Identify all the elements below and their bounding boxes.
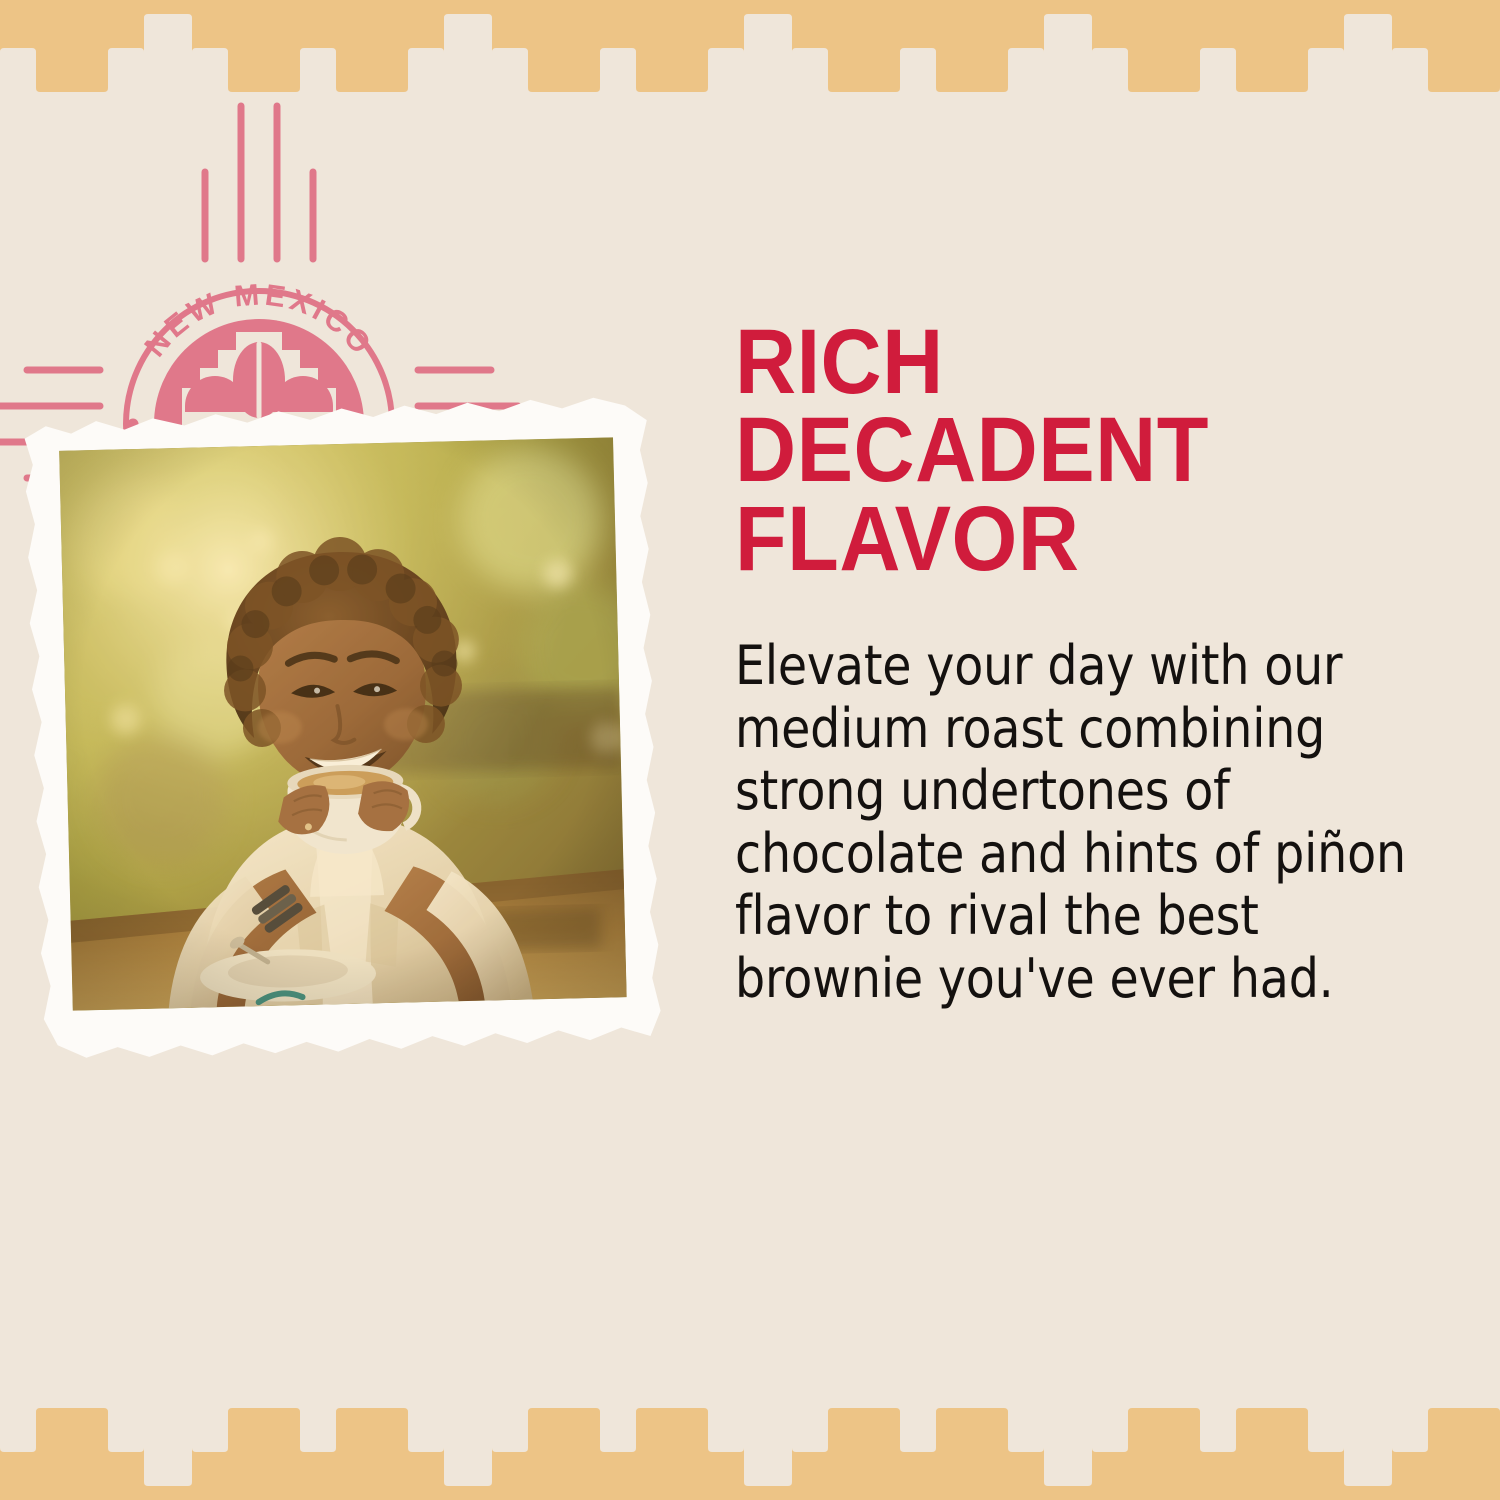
page-title: RICH DECADENT FLAVOR	[735, 318, 1388, 583]
copy-column: RICH DECADENT FLAVOR Elevate your day wi…	[735, 318, 1445, 1011]
bottom-stepped-border	[0, 1400, 1500, 1500]
body-description: Elevate your day with our medium roast c…	[735, 635, 1439, 1011]
brand-seal-with-rays: EST. 1994 NEW MEXICO PIÑON COFFEE	[0, 44, 600, 454]
photo-image	[59, 437, 627, 1010]
lifestyle-photo-card	[20, 390, 666, 1065]
product-feature-banner: EST. 1994 NEW MEXICO PIÑON COFFEE	[0, 0, 1500, 1500]
